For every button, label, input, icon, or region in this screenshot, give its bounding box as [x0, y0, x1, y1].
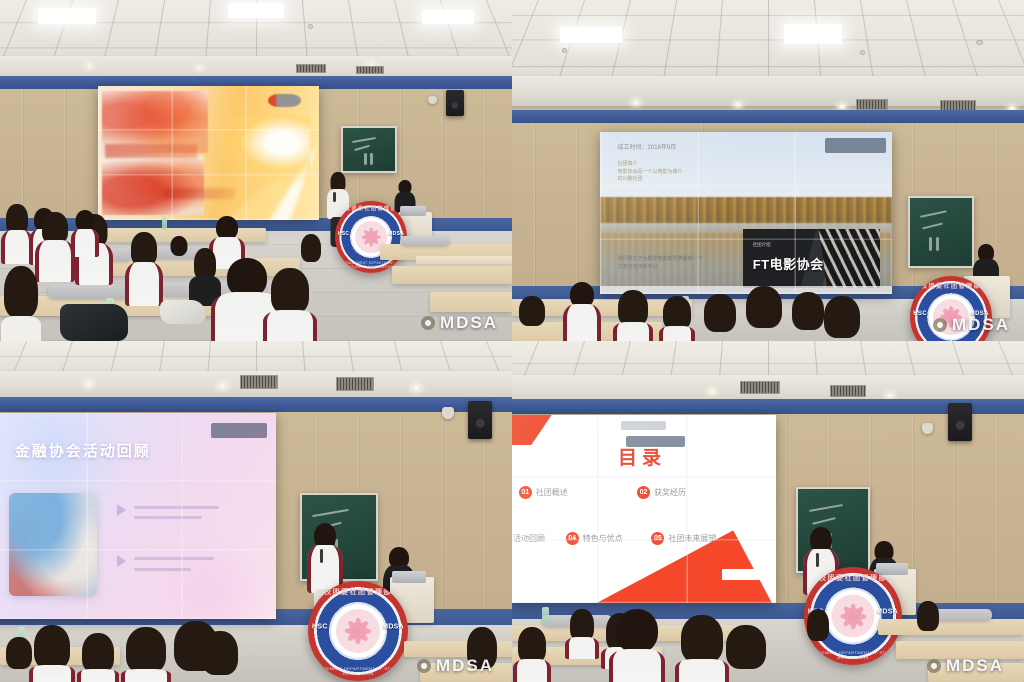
emblem-arc-top: 校团委社团管理部 [804, 573, 902, 583]
toc-row-2: 03 活动回顾 04 特色与优点 05 社团未来展望 [512, 532, 776, 545]
slide-opening-ceremony [98, 86, 319, 220]
slide-body: 我们致力于为热爱电影的同学提供一个 交流与创作的平台 [618, 256, 703, 271]
audience-member [912, 601, 944, 645]
toc-item: 05 社团未来展望 [651, 532, 747, 545]
slide-title-card: 社团介绍 FT电影协会 [743, 229, 880, 287]
lecture-desk [928, 663, 1024, 682]
ppt-toolbar[interactable] [626, 436, 685, 447]
audience-head [171, 236, 188, 256]
audience-hair [807, 609, 829, 641]
emblem-flower-icon [831, 594, 874, 637]
video-wall-display: 金融协会活动回顾 [0, 413, 276, 619]
audience-hair [618, 290, 648, 326]
toc-number: 05 [651, 532, 664, 545]
emblem-left-text: HSC [338, 231, 349, 237]
audience-member [0, 266, 42, 341]
audience-hair [704, 294, 736, 332]
slide-photo [9, 493, 97, 596]
ceiling-camera-icon [428, 96, 437, 104]
audience-hair [518, 627, 546, 663]
toc-number: 04 [566, 532, 579, 545]
audience-torso [263, 310, 317, 341]
audience-member [512, 296, 552, 341]
emblem-arc-top: 校团委社团管理部 [910, 281, 992, 290]
audience-member [608, 609, 666, 682]
water-bottle [162, 216, 167, 230]
audience-torso [1, 316, 41, 341]
hvac-vent [856, 99, 888, 110]
audience-torso [659, 326, 695, 341]
toc-row-1: 01 社团概述 02 获奖经历 [512, 486, 776, 499]
emblem-arc-top: 校团委社团管理部 [335, 205, 407, 212]
downlight [632, 100, 640, 105]
audience-member [612, 290, 654, 341]
chalk-mark [809, 504, 842, 512]
collage-panel-bottom-right: 目录 01 社团概述 02 获奖经历 03 活动回顾 [512, 341, 1024, 682]
slide-text-line [134, 557, 214, 560]
toc-number: 02 [637, 486, 650, 499]
emblem-flower-icon [933, 299, 969, 335]
toc-label: 活动回顾 [513, 533, 545, 544]
wall-speaker [468, 401, 492, 439]
audience-torso [121, 669, 171, 682]
collage-panel-top-right: 成立时间：2018年9月 社团简介 电影协会是一个以电影为媒介 的兴趣社团 我们… [512, 0, 1024, 341]
downlight [734, 102, 742, 107]
audience-torso [125, 262, 163, 306]
chalk-mark [364, 153, 367, 165]
audience-hair [681, 615, 723, 663]
audience-member [0, 637, 38, 682]
chalk-mark [929, 237, 932, 251]
audience-torso [609, 649, 665, 682]
audience-hair [6, 637, 32, 669]
toc-item: 01 社团概述 [519, 486, 637, 499]
hvac-vent [296, 64, 326, 73]
slide-text-line [134, 506, 219, 509]
audience-member [70, 210, 100, 256]
audience-hair [4, 266, 38, 318]
toc-number: 01 [519, 486, 532, 499]
chalk-mark [354, 145, 370, 151]
audience-member [124, 232, 164, 306]
slide-decor-blob [151, 528, 265, 619]
audience-member [802, 609, 834, 659]
audience-hair [917, 601, 939, 631]
slide-accent-shape [512, 415, 559, 445]
smoke-detector-icon [976, 40, 983, 45]
chalk-mark [352, 137, 376, 143]
ceiling-led-panel [784, 24, 842, 44]
ceiling-led-panel [560, 27, 622, 43]
lecture-desk [430, 292, 512, 312]
chalk-mark [312, 509, 349, 517]
audience-member [120, 627, 172, 682]
slide-title: 目录 [618, 443, 666, 470]
event-logo-icon [268, 94, 301, 107]
downlight [838, 104, 846, 109]
emblem-flower-icon [336, 609, 380, 653]
slide-title: 金融协会活动回顾 [15, 440, 151, 461]
microphone-icon [320, 549, 323, 563]
toc-label: 获奖经历 [654, 487, 686, 498]
toc-label: 特色与优点 [583, 533, 623, 544]
slide-table-of-contents: 目录 01 社团概述 02 获奖经历 03 活动回顾 [512, 415, 776, 603]
audience-torso [77, 669, 119, 682]
smoke-detector-icon [308, 24, 313, 29]
emblem-right-text: MDSA [876, 609, 898, 616]
collage-panel-top-left: 校团委社团管理部 HSC MDSA MANAGEMENT DEPARTMENT … [0, 0, 512, 341]
toc-item: 04 特色与优点 [566, 532, 652, 545]
collage-panel-bottom-left: 金融协会活动回顾 [0, 341, 512, 682]
lecture-desk [878, 619, 1024, 635]
ceiling-led-panel [38, 8, 96, 24]
audience-member [818, 296, 866, 341]
audience-member [166, 236, 192, 276]
video-wall-display [98, 86, 319, 220]
video-wall-display: 成立时间：2018年9月 社团简介 电影协会是一个以电影为媒介 的兴趣社团 我们… [600, 132, 892, 294]
slide-accent-tab [722, 569, 765, 580]
chalk-mark [922, 223, 943, 230]
slide-text-line [134, 516, 202, 519]
club-emblem: 校团委社团管理部 HSC MDSA MANAGEMENT DEPARTMENT … [910, 276, 992, 341]
downlight [412, 385, 421, 391]
seat-back [400, 236, 450, 246]
slide-finance-review: 金融协会活动回顾 [0, 413, 276, 619]
toc-item: 03 活动回顾 [512, 532, 566, 545]
audience-torso [565, 637, 599, 659]
chalk-mark [936, 237, 939, 251]
microphone-icon [816, 553, 819, 567]
emblem-right-text: MDSA [970, 311, 989, 317]
audience-torso [71, 229, 99, 257]
film-reel-icon [818, 229, 880, 287]
audience-member [740, 286, 788, 341]
slide-lead: 社团简介 电影协会是一个以电影为媒介 的兴趣社团 [618, 161, 683, 184]
audience-hair [82, 633, 114, 673]
wall-accent-band [0, 397, 512, 413]
audience-member [698, 294, 742, 341]
audience-member [296, 234, 326, 282]
downlight [84, 381, 93, 387]
audience-hair [824, 296, 860, 338]
slide-subtitle [164, 188, 235, 199]
slide-photo [102, 156, 204, 215]
slide-film-club: 成立时间：2018年9月 社团简介 电影协会是一个以电影为媒介 的兴趣社团 我们… [600, 132, 892, 294]
audience-member [462, 627, 502, 682]
slide-text-line [134, 568, 191, 571]
wall-speaker [948, 403, 972, 441]
club-emblem: 校团委社团管理部 HSC MDSA MANAGEMENT DEPARTMENT … [308, 581, 408, 681]
emblem-arc-bottom: MANAGEMENT DEPARTMENT OF STUDENT ASSOCIA… [308, 666, 408, 676]
audience-member [564, 609, 600, 657]
audience-torso [613, 322, 653, 341]
hvac-vent [240, 375, 278, 389]
audience-head [616, 609, 658, 653]
ppt-toolbar[interactable] [621, 421, 667, 430]
hvac-vent [740, 381, 780, 394]
desk-surface [416, 256, 512, 264]
emblem-arc-top: 校团委社团管理部 [308, 587, 408, 597]
ceiling-camera-icon [442, 407, 454, 419]
hvac-vent [830, 385, 866, 397]
audience-member [512, 627, 552, 682]
chalk-mark [920, 210, 947, 218]
emblem-left-text: HSC [913, 311, 927, 317]
microphone-icon [333, 192, 336, 202]
audience-member [76, 633, 120, 682]
audience-torso [563, 304, 601, 341]
chalk-mark [370, 153, 373, 165]
audience-hair [34, 625, 70, 669]
slide-sunburst [217, 115, 310, 185]
audience-hair [519, 296, 545, 326]
audience-member [658, 296, 696, 341]
audience-member [196, 631, 244, 682]
chalkboard [341, 126, 397, 173]
ppt-toolbar[interactable] [211, 423, 268, 437]
audience-hair [746, 286, 782, 328]
audience-hair [202, 631, 238, 675]
laptop [392, 571, 426, 583]
toc-label: 社团概述 [536, 487, 568, 498]
play-triangle-icon [117, 504, 126, 516]
audience-hair [131, 232, 157, 266]
slide-banner [105, 144, 198, 159]
emblem-right-text: MDSA [382, 624, 404, 631]
ceiling-camera-icon [922, 423, 933, 434]
downlight [886, 393, 894, 398]
slide-card-label: 社团介绍 [753, 242, 771, 248]
lecture-desk [392, 266, 512, 284]
photo-collage: 校团委社团管理部 HSC MDSA MANAGEMENT DEPARTMENT … [0, 0, 1024, 682]
wall-speaker [446, 90, 464, 116]
ceiling-led-panel [422, 10, 474, 24]
video-wall-display: 目录 01 社团概述 02 获奖经历 03 活动回顾 [512, 415, 776, 603]
emblem-left-text: HSC [312, 624, 328, 631]
audience-hair [126, 627, 166, 673]
audience-hair [301, 234, 321, 262]
play-triangle-icon [117, 555, 126, 567]
smoke-detector-icon [562, 48, 567, 53]
downlight [708, 389, 716, 394]
audience-torso [513, 659, 551, 682]
wall-accent-band [512, 110, 1024, 124]
jacket [160, 300, 206, 324]
hvac-vent [336, 377, 374, 391]
ppt-toolbar[interactable] [825, 138, 886, 153]
slide-card-title: FT电影协会 [753, 254, 824, 273]
water-bottle [542, 607, 549, 624]
audience-member [720, 625, 772, 682]
chalk-mark [812, 517, 836, 525]
downlight [218, 383, 227, 389]
toc-label: 社团未来展望 [668, 533, 716, 544]
audience-member [562, 282, 602, 341]
audience-hair [467, 627, 497, 669]
audience-hair [663, 296, 691, 330]
club-emblem: 校团委社团管理部 HSC MDSA MANAGEMENT DEPARTMENT … [335, 201, 407, 273]
downlight [86, 64, 93, 68]
smoke-detector-icon [860, 50, 865, 55]
toc-item: 02 获奖经历 [637, 486, 755, 499]
slide-header: 成立时间：2018年9月 [618, 142, 677, 151]
ceiling-led-panel [228, 3, 284, 18]
backpack [60, 304, 128, 341]
audience-hair [726, 625, 766, 669]
chalkboard [908, 196, 974, 268]
hvac-vent [356, 66, 384, 74]
downlight [196, 66, 203, 70]
